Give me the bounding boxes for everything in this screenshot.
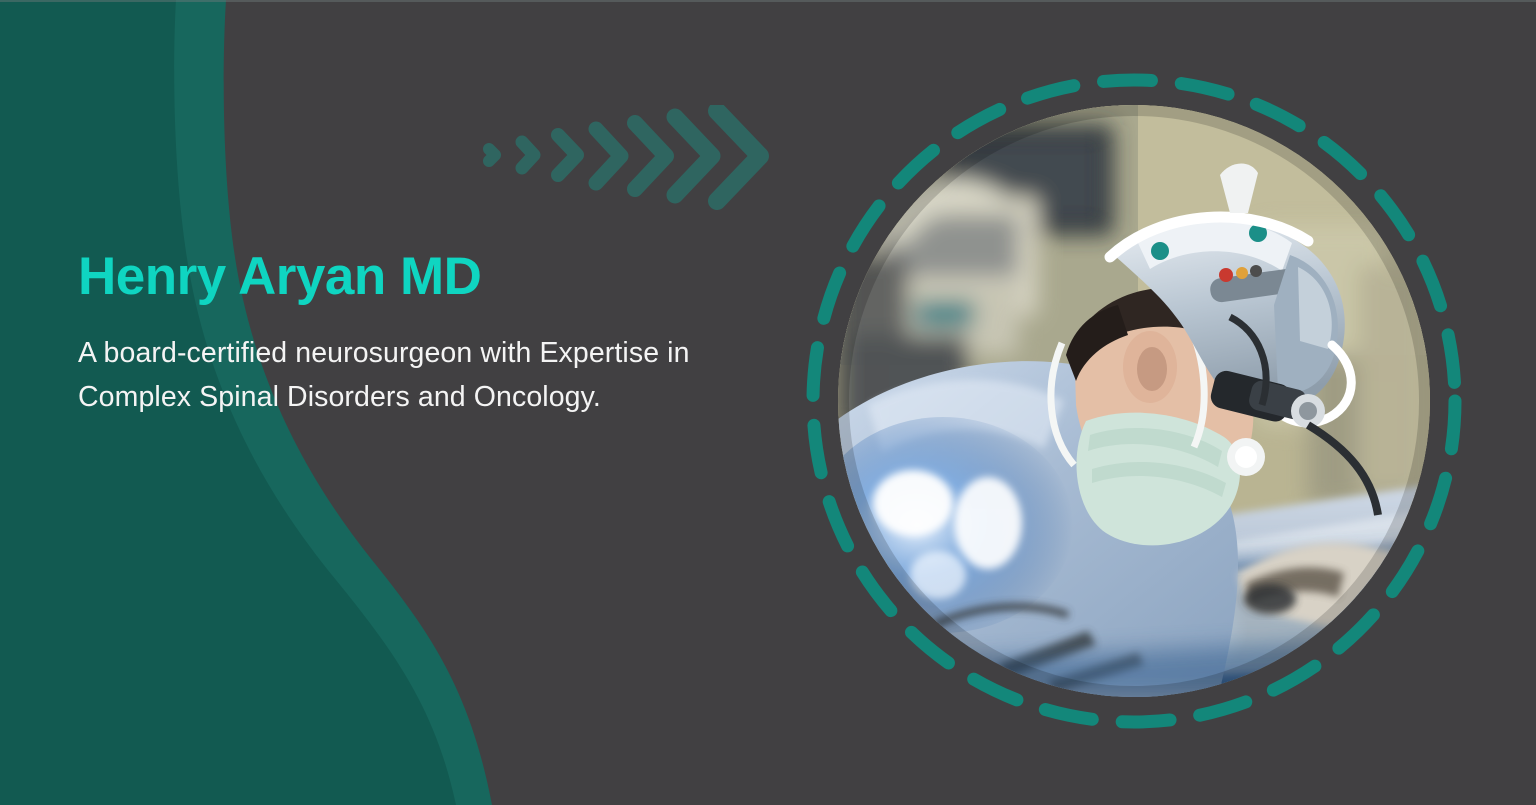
chevron-arrow-sequence [470, 105, 800, 215]
surgeon-operating-photo [838, 105, 1430, 697]
top-edge-highlight [0, 0, 1536, 2]
page-title: Henry Aryan MD [78, 248, 818, 305]
chevron-icon [596, 129, 621, 183]
subtitle-line-1: A board-certified neurosurgeon with Expe… [78, 337, 690, 369]
subtitle-line-2: Complex Spinal Disorders and Oncology. [78, 381, 601, 413]
page-subtitle: A board-certified neurosurgeon with Expe… [78, 331, 798, 419]
hero-text-block: Henry Aryan MD A board-certified neurosu… [78, 248, 818, 420]
chevron-icon [635, 123, 666, 189]
chevron-icon [489, 149, 495, 161]
chevron-icon [558, 135, 577, 175]
chevron-icon [675, 117, 712, 195]
hero-banner: Henry Aryan MD A board-certified neurosu… [0, 0, 1536, 805]
chevron-icon [522, 142, 534, 168]
chevron-icon [717, 111, 760, 201]
